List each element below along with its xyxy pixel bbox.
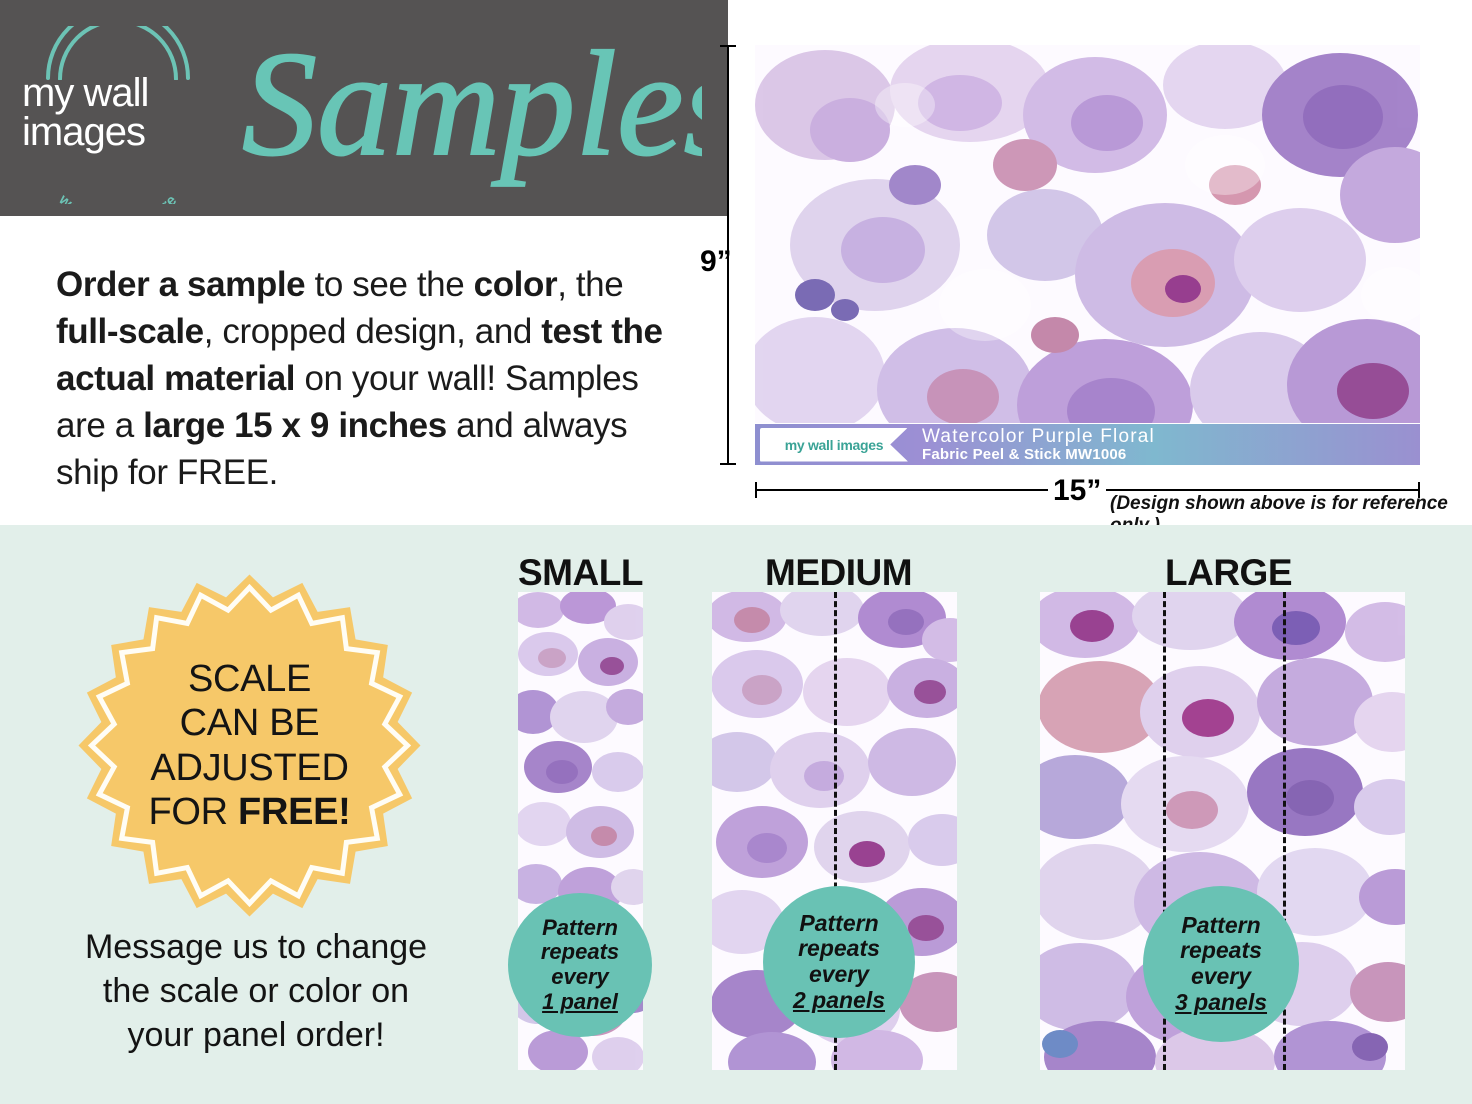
sample-label-logo-text: my wall images [785, 437, 884, 453]
intro-segment-8: large 15 x 9 inches [143, 406, 447, 445]
message-us-copy: Message us to change the scale or color … [46, 925, 466, 1058]
repeat-badge-medium: Pattern repeats every 2 panels [763, 886, 915, 1038]
repeat-large-line-1: Pattern [1181, 913, 1260, 939]
sample-label-text-block: Watercolor Purple Floral Fabric Peel & S… [922, 427, 1155, 463]
repeat-small-amount: 1 panel [542, 990, 618, 1015]
message-line-1: Message us to change [46, 925, 466, 969]
repeat-badge-large: Pattern repeats every 3 panels [1143, 886, 1299, 1042]
intro-segment-2: color [474, 265, 558, 304]
intro-segment-1: to see the [305, 265, 473, 304]
repeat-medium-amount: 2 panels [793, 988, 885, 1014]
sample-label-title: Watercolor Purple Floral [922, 427, 1155, 447]
message-line-3: your panel order! [46, 1013, 466, 1057]
repeat-medium-line-3: every [809, 962, 869, 988]
scale-badge-line-4: FOR FREE! [148, 790, 350, 834]
repeat-small-line-2: repeats [541, 940, 619, 965]
intro-paragraph: Order a sample to see the color, the ful… [56, 262, 686, 496]
sample-label-subtitle: Fabric Peel & Stick MW1006 [922, 447, 1155, 463]
sample-label-logo-badge: my wall images [760, 428, 908, 462]
scale-badge-line-1: SCALE [188, 657, 311, 701]
repeat-medium-line-1: Pattern [799, 911, 878, 937]
logo-tagline: wallpaper + more [30, 154, 205, 204]
logo-line-1: my wall [22, 74, 212, 113]
logo-tagline-text: wallpaper + more [55, 191, 181, 204]
intro-segment-4: full-scale [56, 312, 204, 351]
repeat-large-amount: 3 panels [1175, 990, 1267, 1016]
height-dimension-label: 9” [700, 245, 732, 279]
samples-script-title: Samples [232, 24, 702, 200]
repeat-small-line-1: Pattern [542, 916, 618, 941]
scale-heading-medium: MEDIUM [765, 552, 912, 594]
sample-preview-image: my wall images Watercolor Purple Floral … [755, 45, 1420, 465]
samples-title-text: Samples [242, 24, 702, 187]
floral-pattern-artwork [755, 45, 1420, 465]
scale-badge-text: SCALE CAN BE ADJUSTED FOR FREE! [77, 573, 422, 918]
repeat-large-line-3: every [1191, 964, 1251, 990]
scale-badge-line-4-prefix: FOR [148, 791, 238, 833]
repeat-large-line-2: repeats [1180, 938, 1262, 964]
logo-wordmark: my wall images [22, 74, 212, 152]
intro-segment-3: , the [557, 265, 623, 304]
header-bar: my wall images wallpaper + more Samples [0, 0, 728, 216]
logo-line-2: images [22, 113, 212, 152]
scale-heading-small: SMALL [518, 552, 643, 594]
scale-badge-line-4-strong: FREE! [238, 791, 351, 833]
intro-segment-5: , cropped design, and [204, 312, 542, 351]
message-line-2: the scale or color on [46, 969, 466, 1013]
scale-badge-line-2: CAN BE [180, 701, 320, 745]
sample-image-label: my wall images Watercolor Purple Floral … [755, 423, 1420, 465]
repeat-badge-small: Pattern repeats every 1 panel [508, 893, 652, 1037]
width-dimension-label: 15” [1048, 474, 1106, 508]
scale-heading-large: LARGE [1165, 552, 1292, 594]
repeat-small-line-3: every [551, 965, 609, 990]
scale-adjust-badge: SCALE CAN BE ADJUSTED FOR FREE! [77, 573, 422, 918]
brand-logo: my wall images wallpaper + more [22, 22, 212, 197]
repeat-medium-line-2: repeats [798, 936, 880, 962]
intro-segment-0: Order a sample [56, 265, 305, 304]
scale-badge-line-3: ADJUSTED [150, 746, 348, 790]
